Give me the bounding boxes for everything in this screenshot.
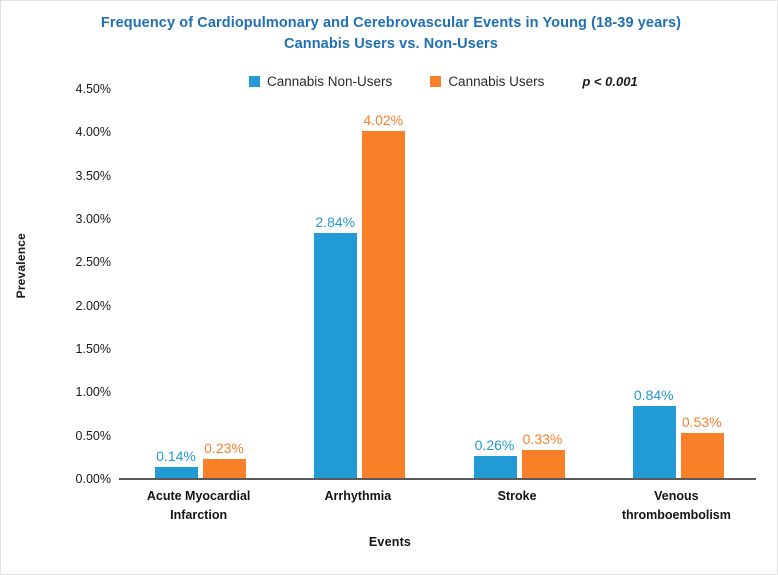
x-axis-title: Events bbox=[1, 535, 778, 549]
chart-figure: Frequency of Cardiopulmonary and Cerebro… bbox=[0, 0, 778, 575]
bar-value-label: 4.02% bbox=[343, 112, 423, 128]
y-axis-tick-label: 3.00% bbox=[49, 212, 111, 226]
legend-label-non-users: Cannabis Non-Users bbox=[267, 74, 392, 89]
y-axis-tick-label: 3.50% bbox=[49, 169, 111, 183]
bar[interactable] bbox=[314, 233, 357, 479]
y-axis-title: Prevalence bbox=[14, 233, 30, 298]
x-axis-category-label-line: Venous bbox=[595, 487, 758, 506]
x-axis-tick-labels: Acute MyocardialInfarctionArrhythmiaStro… bbox=[119, 487, 756, 533]
y-axis-tick-label: 0.50% bbox=[49, 429, 111, 443]
bar-value-label: 0.53% bbox=[662, 414, 742, 430]
x-axis-category-label: Arrhythmia bbox=[276, 487, 439, 506]
bar-group: 2.84%4.02% bbox=[278, 89, 437, 479]
chart-title-line-2: Cannabis Users vs. Non-Users bbox=[61, 34, 721, 55]
x-axis-category-label-line: Infarction bbox=[117, 506, 280, 525]
legend-item-cannabis-users[interactable]: Cannabis Users bbox=[430, 74, 544, 89]
bar-group: 0.26%0.33% bbox=[438, 89, 597, 479]
chart-title: Frequency of Cardiopulmonary and Cerebro… bbox=[61, 13, 721, 55]
x-axis-category-label: Acute MyocardialInfarction bbox=[117, 487, 280, 525]
y-axis-tick-label: 1.50% bbox=[49, 342, 111, 356]
x-axis-line bbox=[119, 478, 756, 480]
bar[interactable] bbox=[203, 459, 246, 479]
y-axis-tick-label: 1.00% bbox=[49, 385, 111, 399]
p-value-annotation: p < 0.001 bbox=[582, 74, 637, 89]
y-axis-tick-label: 2.50% bbox=[49, 255, 111, 269]
bar[interactable] bbox=[474, 456, 517, 479]
y-axis-tick-label: 0.00% bbox=[49, 472, 111, 486]
bar-group: 0.84%0.53% bbox=[597, 89, 756, 479]
x-axis-category-label-line: Arrhythmia bbox=[276, 487, 439, 506]
x-axis-category-label-line: thromboembolism bbox=[595, 506, 758, 525]
x-axis-category-label: Venousthromboembolism bbox=[595, 487, 758, 525]
bar[interactable] bbox=[362, 131, 405, 479]
legend-item-cannabis-non-users[interactable]: Cannabis Non-Users bbox=[249, 74, 392, 89]
plot-area: 0.14%0.23%2.84%4.02%0.26%0.33%0.84%0.53% bbox=[119, 89, 756, 479]
bar[interactable] bbox=[522, 450, 565, 479]
chart-legend: Cannabis Non-Users Cannabis Users p < 0.… bbox=[249, 71, 638, 91]
bar-group: 0.14%0.23% bbox=[119, 89, 278, 479]
y-axis-tick-label: 4.00% bbox=[49, 125, 111, 139]
y-axis-tick-labels: 0.00%0.50%1.00%1.50%2.00%2.50%3.00%3.50%… bbox=[49, 89, 111, 479]
bar[interactable] bbox=[681, 433, 724, 479]
bar-value-label: 0.84% bbox=[614, 387, 694, 403]
legend-swatch-icon-non-users bbox=[249, 76, 260, 87]
bar-value-label: 0.23% bbox=[184, 440, 264, 456]
chart-title-line-1: Frequency of Cardiopulmonary and Cerebro… bbox=[61, 13, 721, 34]
legend-swatch-icon-users bbox=[430, 76, 441, 87]
bar-value-label: 0.33% bbox=[503, 431, 583, 447]
x-axis-category-label-line: Stroke bbox=[436, 487, 599, 506]
y-axis-tick-label: 2.00% bbox=[49, 299, 111, 313]
y-axis-tick-label: 4.50% bbox=[49, 82, 111, 96]
x-axis-category-label-line: Acute Myocardial bbox=[117, 487, 280, 506]
legend-label-users: Cannabis Users bbox=[448, 74, 544, 89]
x-axis-category-label: Stroke bbox=[436, 487, 599, 506]
